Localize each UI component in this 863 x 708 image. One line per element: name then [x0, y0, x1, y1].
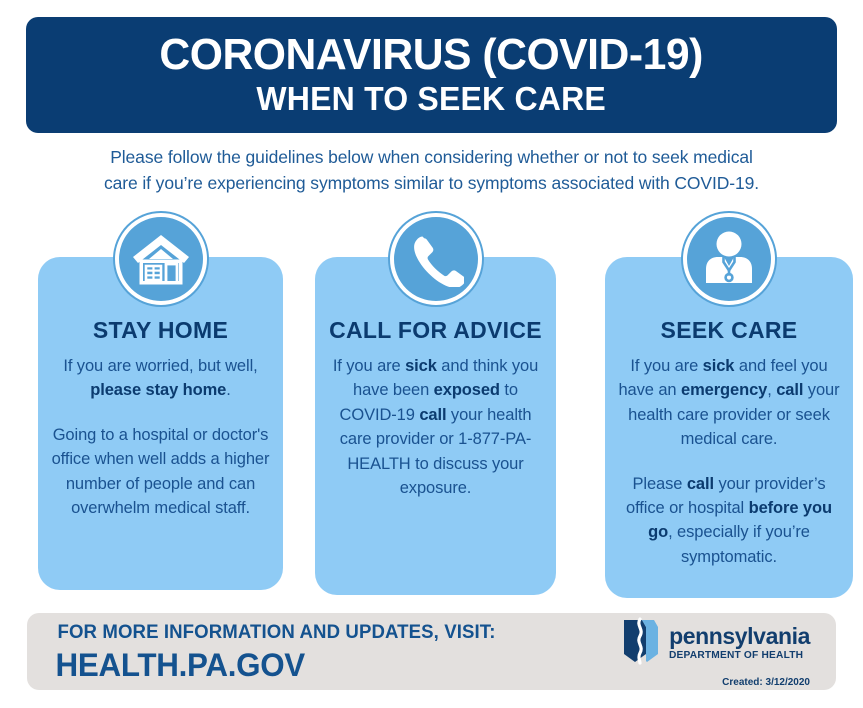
card-paragraph: If you are worried, but well, please sta… — [50, 354, 271, 403]
intro-line-2: care if you’re experiencing symptoms sim… — [40, 171, 823, 197]
card-title: CALL FOR ADVICE — [327, 319, 544, 342]
card-title: SEEK CARE — [617, 319, 841, 342]
house-icon — [115, 213, 207, 305]
card-paragraph: If you are sick and think you have been … — [327, 354, 544, 500]
card-title: STAY HOME — [50, 319, 271, 342]
created-date: Created: 3/12/2020 — [722, 677, 810, 688]
footer-left: FOR MORE INFORMATION AND UPDATES, VISIT:… — [53, 623, 500, 681]
pa-department-of-health-logo: pennsylvania DEPARTMENT OF HEALTH — [616, 616, 810, 671]
doctor-icon — [683, 213, 775, 305]
logo-name: pennsylvania — [669, 625, 810, 648]
card-icon-wrap — [390, 213, 482, 305]
footer-website-link[interactable]: HEALTH.PA.GOV — [56, 649, 305, 681]
card-icon-wrap — [115, 213, 207, 305]
page-subtitle: WHEN TO SEEK CARE — [257, 81, 607, 117]
card-paragraph: If you are sick and feel you have an eme… — [617, 354, 841, 452]
phone-icon — [390, 213, 482, 305]
footer-cta-text: FOR MORE INFORMATION AND UPDATES, VISIT: — [57, 623, 495, 642]
header-banner: CORONAVIRUS (COVID-19) WHEN TO SEEK CARE — [26, 17, 837, 133]
card-paragraph: Please call your provider’s office or ho… — [617, 472, 841, 570]
card-stay-home: STAY HOME If you are worried, but well, … — [38, 257, 283, 590]
card-body: If you are worried, but well, please sta… — [50, 354, 271, 520]
card-paragraph: Going to a hospital or doctor's office w… — [50, 423, 271, 521]
guidance-cards: STAY HOME If you are worried, but well, … — [0, 212, 863, 602]
footer-bar: FOR MORE INFORMATION AND UPDATES, VISIT:… — [27, 613, 836, 690]
pa-keystone-caduceus-icon — [616, 616, 662, 671]
footer-right: pennsylvania DEPARTMENT OF HEALTH Create… — [616, 616, 812, 688]
page-title: CORONAVIRUS (COVID-19) — [160, 33, 703, 78]
logo-department: DEPARTMENT OF HEALTH — [669, 650, 806, 661]
card-body: If you are sick and think you have been … — [327, 354, 544, 500]
card-call-for-advice: CALL FOR ADVICE If you are sick and thin… — [315, 257, 556, 595]
card-seek-care: SEEK CARE If you are sick and feel you h… — [605, 257, 853, 598]
pa-logo-text: pennsylvania DEPARTMENT OF HEALTH — [669, 625, 810, 661]
card-icon-wrap — [683, 213, 775, 305]
intro-text: Please follow the guidelines below when … — [40, 145, 823, 197]
intro-line-1: Please follow the guidelines below when … — [40, 145, 823, 171]
card-body: If you are sick and feel you have an eme… — [617, 354, 841, 569]
